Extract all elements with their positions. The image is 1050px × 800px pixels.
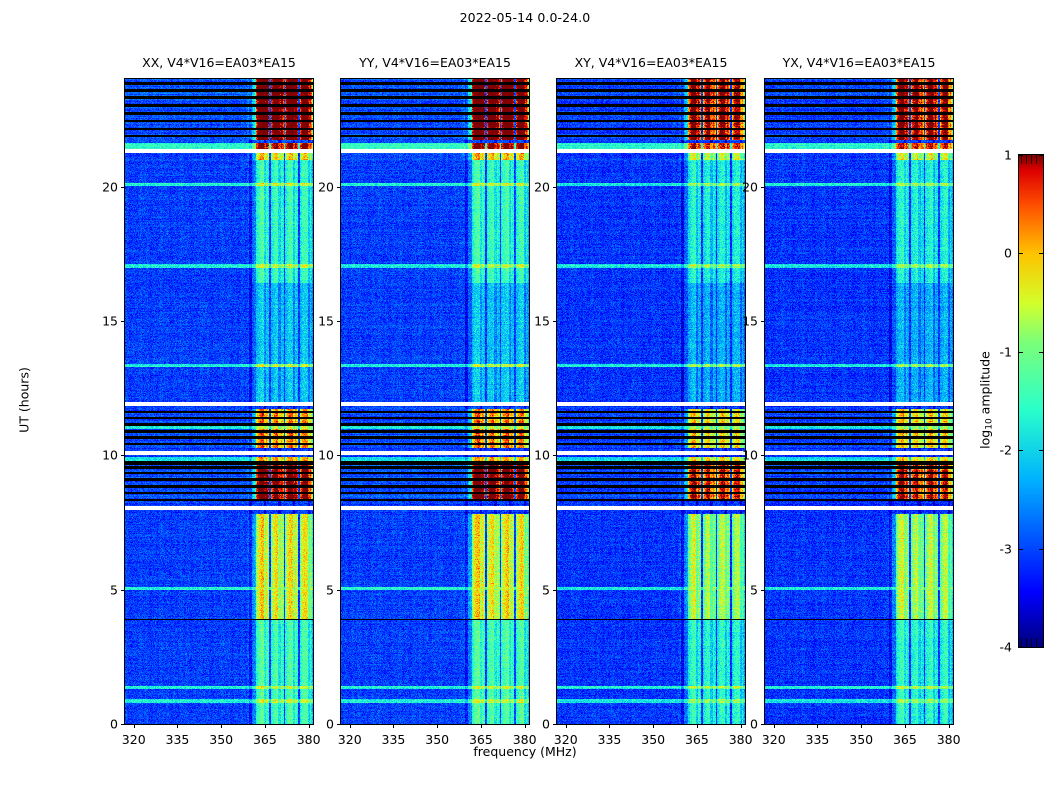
panel-yy-xtick-mark-380: [525, 724, 526, 728]
panel-xx-xtick-mark-350: [221, 724, 222, 728]
panel-xx-title: XX, V4*V16=EA03*EA15: [142, 55, 296, 70]
colorbar-tick-mark-right-0: [1039, 253, 1044, 254]
panel-yy-ytick-label-0: 0: [326, 717, 334, 732]
panel-xy-xtick-label-365: 365: [685, 732, 709, 747]
panel-yx[interactable]: YX, V4*V16=EA03*EA1532033535036538005101…: [764, 78, 954, 725]
panel-yy-waterfall: [341, 79, 529, 724]
colorbar-tick-label-1: 1: [1004, 148, 1012, 163]
colorbar-gradient: [1019, 155, 1043, 647]
panel-xx-ytick-label-15: 15: [102, 313, 118, 328]
colorbar-tick-label--1: -1: [1000, 344, 1012, 359]
panel-yx-ytick-label-10: 10: [742, 448, 758, 463]
colorbar-minor-tick-bottom: [1026, 638, 1027, 647]
panel-xy[interactable]: XY, V4*V16=EA03*EA1532033535036538005101…: [556, 78, 746, 725]
colorbar-tick-label--2: -2: [1000, 443, 1012, 458]
colorbar-tick-label-0: 0: [1004, 246, 1012, 261]
panel-xy-ytick-mark-5: [553, 590, 557, 591]
panel-xx-xtick-label-365: 365: [253, 732, 277, 747]
panel-xy-title: XY, V4*V16=EA03*EA15: [575, 55, 728, 70]
panel-xy-ytick-mark-20: [553, 187, 557, 188]
panel-xy-ytick-mark-0: [553, 724, 557, 725]
panel-yx-xtick-label-350: 350: [849, 732, 873, 747]
panel-yy-ytick-label-10: 10: [318, 448, 334, 463]
panel-xy-xtick-mark-350: [653, 724, 654, 728]
panel-yy-xtick-mark-335: [393, 724, 394, 728]
panel-xy-ytick-mark-10: [553, 455, 557, 456]
panel-xy-xtick-mark-380: [741, 724, 742, 728]
panel-xx-xtick-mark-335: [177, 724, 178, 728]
panel-yx-xtick-mark-380: [949, 724, 950, 728]
panel-yx-waterfall: [765, 79, 953, 724]
panel-yx-xtick-label-380: 380: [937, 732, 961, 747]
panel-yy-xtick-mark-350: [437, 724, 438, 728]
colorbar[interactable]: 10-1-2-3-4: [1018, 154, 1044, 648]
panel-xy-xtick-mark-335: [609, 724, 610, 728]
panel-xx-ytick-label-20: 20: [102, 179, 118, 194]
panel-yx-xtick-mark-335: [817, 724, 818, 728]
panel-yy[interactable]: YY, V4*V16=EA03*EA1532033535036538005101…: [340, 78, 530, 725]
colorbar-minor-tick-top: [1026, 155, 1027, 164]
figure-canvas: 2022-05-14 0.0-24.0 UT (hours) frequency…: [0, 0, 1050, 800]
panel-xy-ytick-mark-15: [553, 321, 557, 322]
colorbar-label-tail: amplitude: [978, 351, 993, 418]
panel-yy-xtick-label-350: 350: [425, 732, 449, 747]
panel-xy-xtick-mark-365: [697, 724, 698, 728]
panel-yy-ytick-label-15: 15: [318, 313, 334, 328]
panel-xy-ytick-label-10: 10: [534, 448, 550, 463]
panel-yx-ytick-mark-10: [761, 455, 765, 456]
colorbar-tick-mark--2: [1018, 450, 1023, 451]
panel-xx-ytick-mark-5: [121, 590, 125, 591]
panel-xy-ytick-label-15: 15: [534, 313, 550, 328]
panel-yx-xtick-label-365: 365: [893, 732, 917, 747]
panel-xy-ytick-label-0: 0: [542, 717, 550, 732]
panel-yx-ytick-label-20: 20: [742, 179, 758, 194]
colorbar-minor-tick-bottom: [1036, 638, 1037, 647]
panel-yy-ytick-mark-10: [337, 455, 341, 456]
panel-xx-ytick-mark-15: [121, 321, 125, 322]
panel-xy-xtick-label-380: 380: [729, 732, 753, 747]
panel-yx-ytick-label-5: 5: [750, 582, 758, 597]
panel-yx-ytick-mark-0: [761, 724, 765, 725]
panel-yy-ytick-mark-15: [337, 321, 341, 322]
panel-xx-xtick-mark-320: [134, 724, 135, 728]
colorbar-minor-tick-bottom: [1031, 638, 1032, 647]
panel-yy-xtick-label-320: 320: [338, 732, 362, 747]
panel-xy-xtick-label-335: 335: [598, 732, 622, 747]
colorbar-label: log10 amplitude: [978, 351, 993, 449]
colorbar-tick-label--3: -3: [1000, 541, 1012, 556]
colorbar-minor-tick-top: [1036, 155, 1037, 164]
panel-xx-xtick-label-335: 335: [166, 732, 190, 747]
panel-xy-ytick-label-5: 5: [542, 582, 550, 597]
figure-suptitle: 2022-05-14 0.0-24.0: [0, 10, 1050, 25]
colorbar-minor-tick-top: [1021, 155, 1022, 164]
panel-yx-title: YX, V4*V16=EA03*EA15: [783, 55, 936, 70]
panel-yx-xtick-mark-350: [861, 724, 862, 728]
panel-xy-waterfall: [557, 79, 745, 724]
colorbar-label-subscript: 10: [985, 418, 995, 429]
panel-yy-xtick-label-335: 335: [382, 732, 406, 747]
panel-xx[interactable]: XX, V4*V16=EA03*EA1532033535036538005101…: [124, 78, 314, 725]
panel-yy-xtick-mark-365: [481, 724, 482, 728]
panel-xx-xtick-label-380: 380: [297, 732, 321, 747]
panel-xx-xtick-mark-380: [309, 724, 310, 728]
panel-xx-ytick-label-10: 10: [102, 448, 118, 463]
panel-xx-ytick-mark-20: [121, 187, 125, 188]
panel-xx-ytick-label-0: 0: [110, 717, 118, 732]
panel-xx-waterfall: [125, 79, 313, 724]
panel-yy-ytick-mark-5: [337, 590, 341, 591]
panel-xy-ytick-label-20: 20: [534, 179, 550, 194]
panel-yx-ytick-mark-5: [761, 590, 765, 591]
panel-yx-xtick-mark-320: [774, 724, 775, 728]
colorbar-label-base: log: [978, 430, 993, 449]
panel-yy-title: YY, V4*V16=EA03*EA15: [359, 55, 511, 70]
panel-yx-xtick-label-335: 335: [806, 732, 830, 747]
panel-yy-ytick-label-5: 5: [326, 582, 334, 597]
colorbar-minor-tick-bottom: [1021, 638, 1022, 647]
colorbar-tick-mark-right--1: [1039, 352, 1044, 353]
panel-yx-ytick-label-0: 0: [750, 717, 758, 732]
colorbar-tick-mark-right--3: [1039, 549, 1044, 550]
panel-yy-ytick-mark-20: [337, 187, 341, 188]
panel-xx-ytick-mark-10: [121, 455, 125, 456]
panel-xx-xtick-label-350: 350: [209, 732, 233, 747]
colorbar-tick-mark-right--4: [1039, 647, 1044, 648]
panel-yx-ytick-label-15: 15: [742, 313, 758, 328]
panel-xy-xtick-label-350: 350: [641, 732, 665, 747]
panel-xy-xtick-mark-320: [566, 724, 567, 728]
panel-yx-xtick-label-320: 320: [762, 732, 786, 747]
panel-xx-ytick-mark-0: [121, 724, 125, 725]
colorbar-tick-label--4: -4: [1000, 640, 1012, 655]
colorbar-tick-mark--1: [1018, 352, 1023, 353]
panel-yy-ytick-mark-0: [337, 724, 341, 725]
panel-xx-xtick-mark-365: [265, 724, 266, 728]
panel-yx-ytick-mark-20: [761, 187, 765, 188]
panel-xy-xtick-label-320: 320: [554, 732, 578, 747]
panel-xx-xtick-label-320: 320: [122, 732, 146, 747]
colorbar-tick-mark-right--2: [1039, 450, 1044, 451]
panel-yx-ytick-mark-15: [761, 321, 765, 322]
panel-yy-xtick-label-365: 365: [469, 732, 493, 747]
colorbar-tick-mark-right-1: [1039, 155, 1044, 156]
panel-yy-xtick-mark-320: [350, 724, 351, 728]
colorbar-tick-mark--4: [1018, 647, 1023, 648]
panel-xx-ytick-label-5: 5: [110, 582, 118, 597]
panel-yy-xtick-label-380: 380: [513, 732, 537, 747]
colorbar-tick-mark-0: [1018, 253, 1023, 254]
panel-yy-ytick-label-20: 20: [318, 179, 334, 194]
y-axis-label: UT (hours): [17, 367, 32, 433]
colorbar-minor-tick-top: [1031, 155, 1032, 164]
colorbar-tick-mark--3: [1018, 549, 1023, 550]
panel-yx-xtick-mark-365: [905, 724, 906, 728]
